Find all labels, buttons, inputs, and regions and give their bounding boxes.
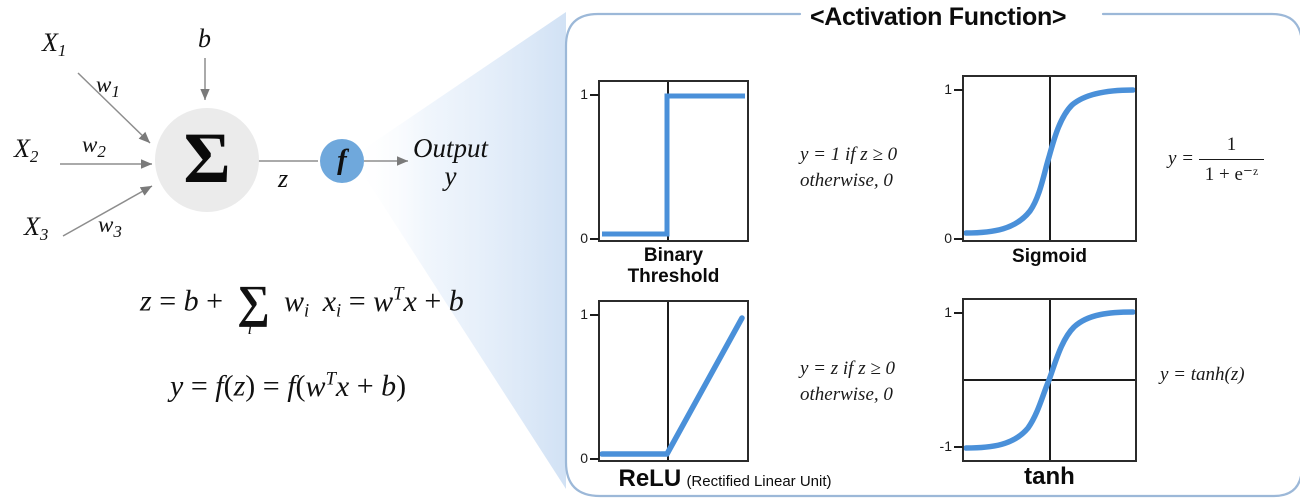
sigmoid-denominator: 1 + e⁻ᶻ <box>1199 160 1264 188</box>
chart-relu <box>598 300 749 462</box>
sigmoid-tick-0 <box>954 238 963 240</box>
activation-node: f <box>320 139 364 183</box>
pre-activation-label-z: z <box>278 164 288 194</box>
tanh-curve <box>964 300 1135 460</box>
relu-caption-main: ReLU <box>618 465 681 492</box>
equation-y: y = f(z) = f(wTx + b) <box>170 368 406 404</box>
sigmoid-curve <box>964 77 1135 240</box>
binary-threshold-curve <box>600 82 747 240</box>
sigmoid-fraction: 1 1 + e⁻ᶻ <box>1199 132 1264 187</box>
activation-function-diagram: <Activation Function> X1 X2 X3 w1 w2 <box>0 0 1300 501</box>
tanh-formula: y = tanh(z) <box>1160 362 1245 388</box>
panel-title: <Activation Function> <box>810 3 1066 32</box>
output-label: Output y <box>413 134 488 191</box>
chart-tanh <box>962 298 1137 462</box>
relu-formula: y = z if z ≥ 0 otherwise, 0 <box>800 356 895 407</box>
binary-threshold-formula-line2: otherwise, 0 <box>800 168 897 194</box>
sigmoid-ylabel-0: 0 <box>930 230 952 246</box>
weight-label-w3: w3 <box>98 212 122 242</box>
binary-threshold-formula: y = 1 if z ≥ 0 otherwise, 0 <box>800 142 897 193</box>
tanh-formula-line1: y = tanh(z) <box>1160 362 1245 388</box>
sigmoid-numerator: 1 <box>1199 132 1264 160</box>
relu-formula-line1: y = z if z ≥ 0 <box>800 356 895 382</box>
relu-tick-1 <box>590 314 599 316</box>
sigmoid-formula: y = 1 1 + e⁻ᶻ <box>1168 132 1264 187</box>
weight-label-w2: w2 <box>82 132 106 162</box>
output-label-line2: y <box>413 162 488 190</box>
sigma-icon: Σ <box>183 122 230 194</box>
input-label-x3: X3 <box>24 212 48 245</box>
tanh-tick-1 <box>954 312 963 314</box>
input-label-x2: X2 <box>14 134 38 167</box>
sigmoid-tick-1 <box>954 89 963 91</box>
relu-formula-line2: otherwise, 0 <box>800 382 895 408</box>
binary-threshold-formula-line1: y = 1 if z ≥ 0 <box>800 142 897 168</box>
binary-threshold-tick-1 <box>590 94 599 96</box>
equation-z: z = b + ∑ i wi xi = wTx + b <box>140 283 464 322</box>
binary-threshold-caption-line2: Threshold <box>598 266 749 287</box>
summation-node: Σ <box>155 108 259 212</box>
chart-sigmoid <box>962 75 1137 242</box>
sigma-icon-equation: ∑ <box>237 276 270 327</box>
binary-threshold-ylabel-1: 1 <box>566 86 588 102</box>
sigmoid-caption: Sigmoid <box>962 246 1137 267</box>
relu-ylabel-0: 0 <box>566 450 588 466</box>
relu-caption-sub: (Rectified Linear Unit) <box>686 473 831 490</box>
relu-tick-0 <box>590 458 599 460</box>
tanh-ylabel-1: 1 <box>930 304 952 320</box>
sigmoid-formula-lhs: y = <box>1168 148 1194 169</box>
bias-label-b: b <box>198 24 211 54</box>
relu-ylabel-1: 1 <box>566 306 588 322</box>
binary-threshold-ylabel-0: 0 <box>566 230 588 246</box>
chart-binary-threshold <box>598 80 749 242</box>
f-symbol: f <box>337 146 347 175</box>
output-label-line1: Output <box>413 134 488 162</box>
relu-curve <box>600 302 747 460</box>
sigmoid-ylabel-1: 1 <box>930 81 952 97</box>
binary-threshold-tick-0 <box>590 238 599 240</box>
binary-threshold-caption: Binary Threshold <box>598 245 749 288</box>
relu-caption: ReLU (Rectified Linear Unit) <box>560 466 890 493</box>
weight-label-w1: w1 <box>96 72 120 102</box>
tanh-ylabel-neg1: -1 <box>924 438 952 454</box>
tanh-caption: tanh <box>962 464 1137 491</box>
binary-threshold-caption-line1: Binary <box>598 245 749 266</box>
tanh-tick-neg1 <box>954 446 963 448</box>
input-label-x1: X1 <box>42 28 66 61</box>
